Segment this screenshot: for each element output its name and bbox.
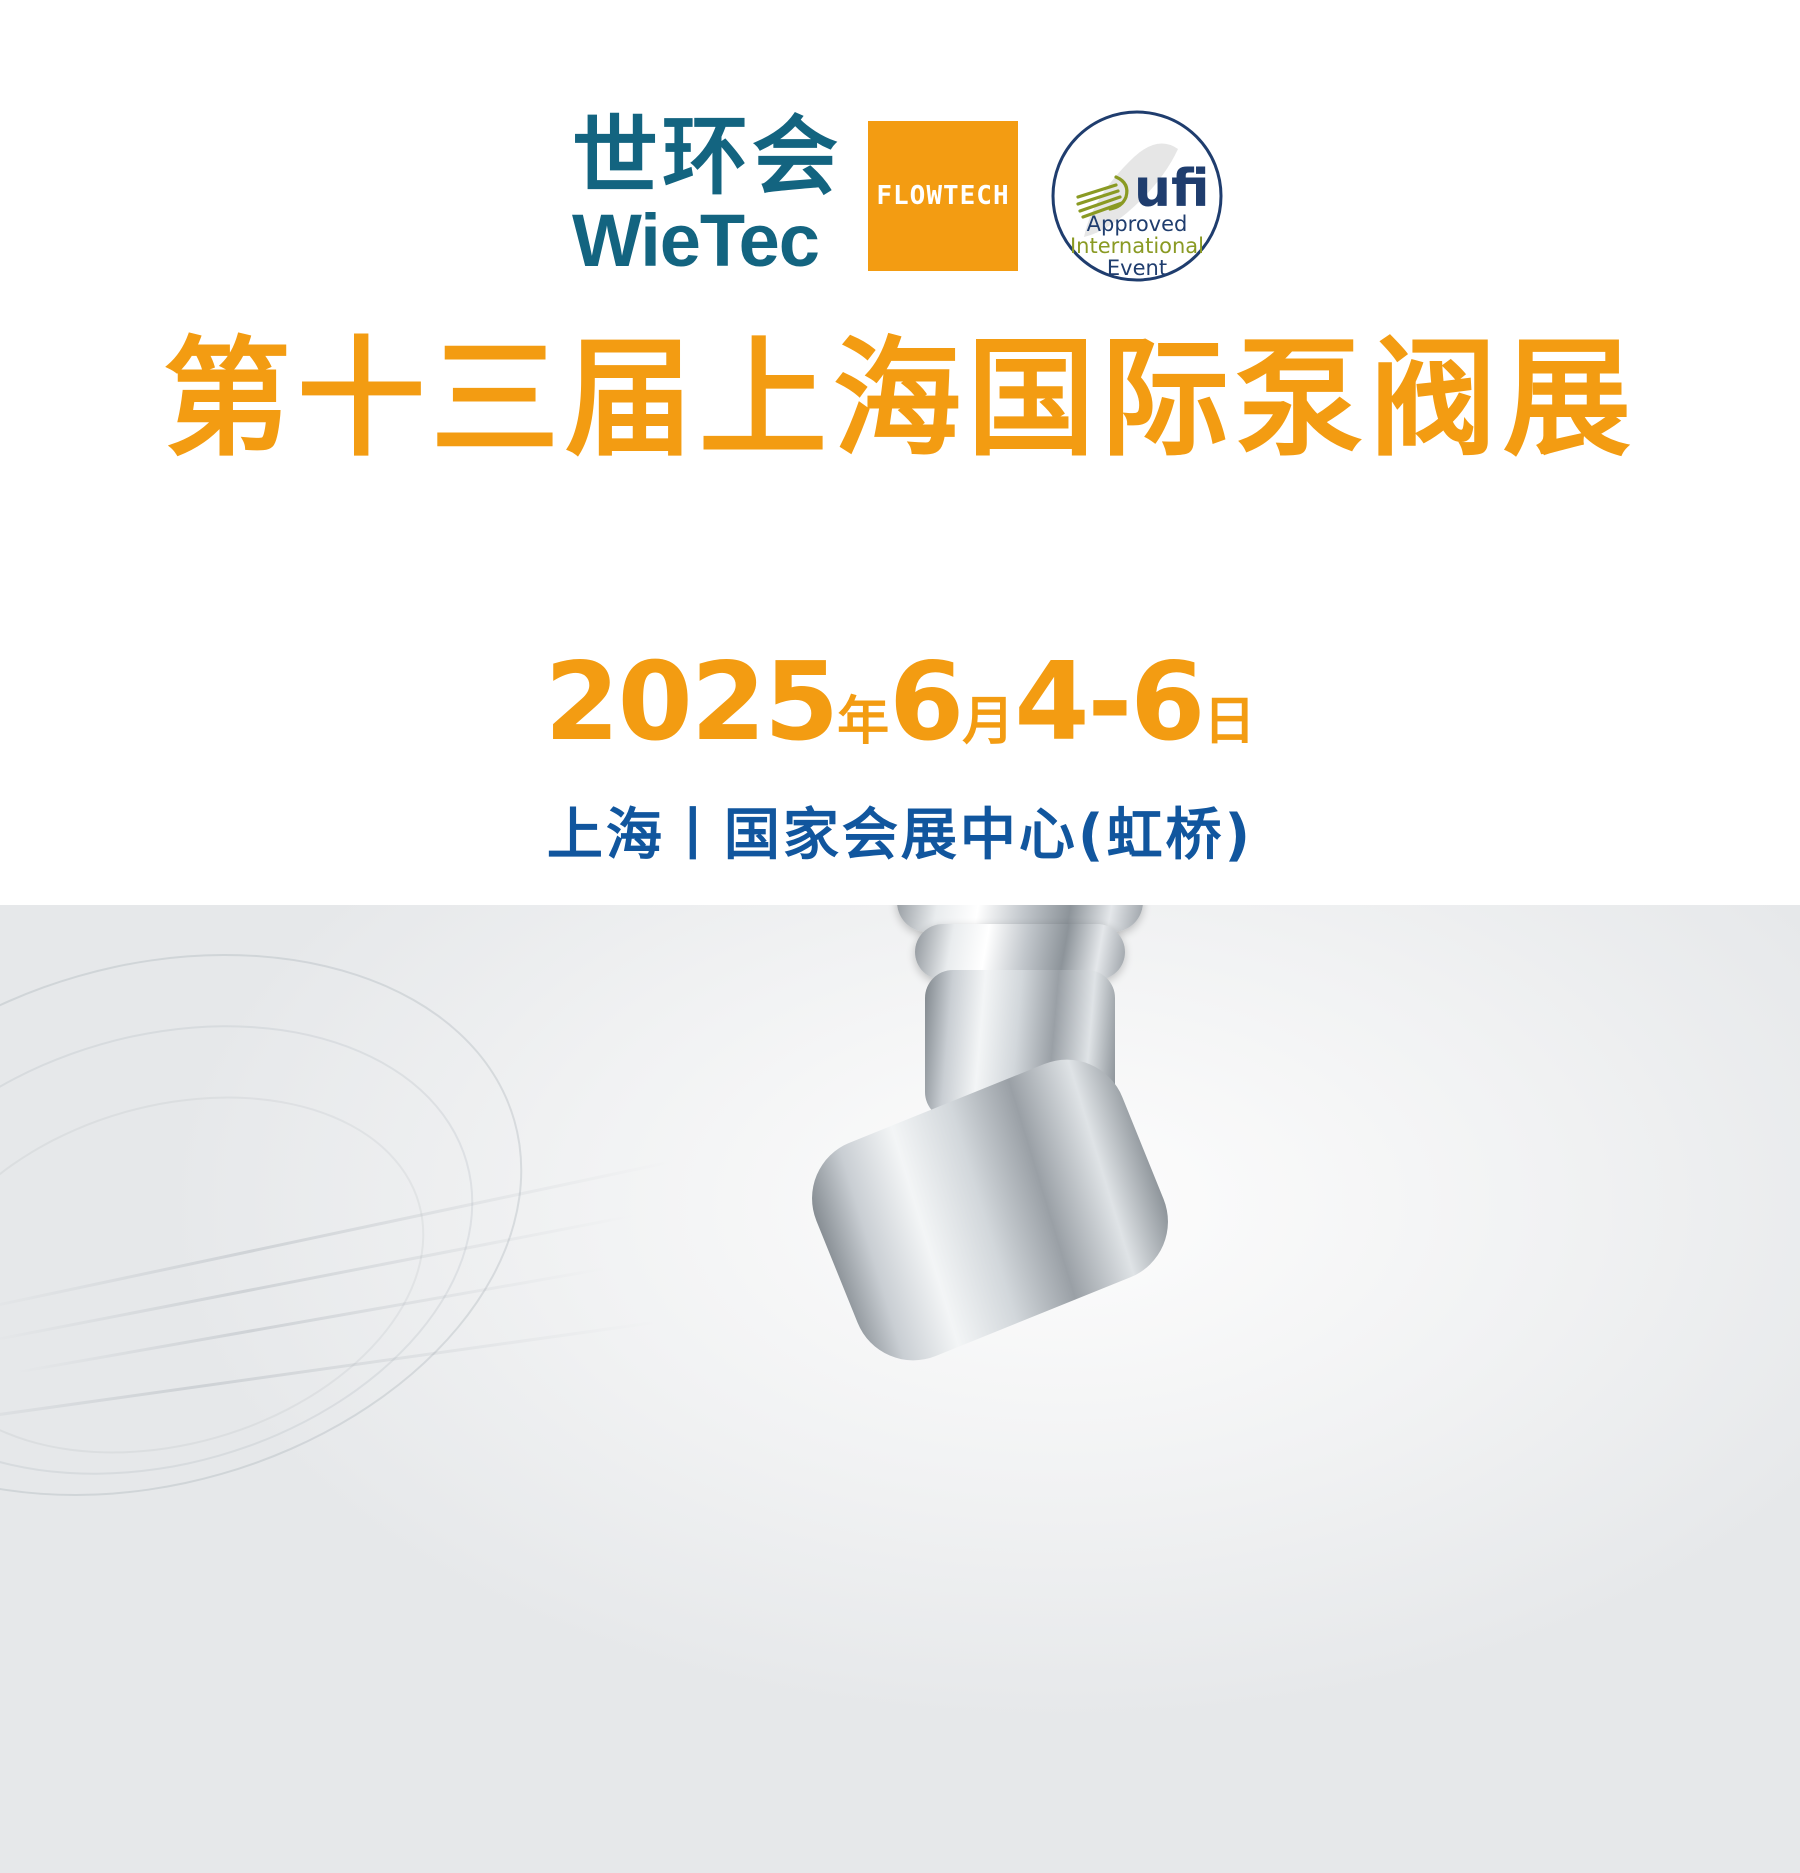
ufi-line-event: Event bbox=[1107, 256, 1167, 280]
date-year: 2025 bbox=[545, 640, 838, 765]
poster-root: 世环会 WieTec FLOWTECH ufi bbox=[0, 0, 1800, 1873]
ufi-badge-icon: ufi Approved International Event bbox=[1046, 105, 1228, 287]
wietec-chinese-name: 世环会 bbox=[572, 114, 842, 202]
flowtech-logo[interactable]: FLOWTECH bbox=[868, 121, 1018, 271]
page-title: 第十三届上海国际泵阀展 bbox=[0, 330, 1800, 471]
date-month: 6 bbox=[889, 640, 962, 765]
date-days: 4-6 bbox=[1014, 640, 1203, 765]
ufi-approved-badge[interactable]: ufi Approved International Event bbox=[1046, 105, 1228, 287]
wietec-english-name: WieTec bbox=[572, 204, 819, 278]
event-date: 2025年6月4-6日 bbox=[0, 640, 1800, 765]
ufi-line-approved: Approved bbox=[1087, 212, 1188, 236]
hero-photo-band: 全国最大泵阀展 60,000 bbox=[0, 905, 1800, 1873]
svg-text:ufi: ufi bbox=[1134, 159, 1210, 219]
date-year-suffix: 年 bbox=[837, 692, 889, 752]
event-venue: 上海丨国家会展中心(虹桥) bbox=[0, 790, 1800, 871]
date-day-suffix: 日 bbox=[1203, 692, 1255, 752]
wietec-logo[interactable]: 世环会 WieTec bbox=[572, 101, 842, 291]
ufi-line-international: International bbox=[1070, 234, 1204, 258]
flowtech-label: FLOWTECH bbox=[876, 181, 1009, 211]
date-month-suffix: 月 bbox=[962, 692, 1014, 752]
logo-row: 世环会 WieTec FLOWTECH ufi bbox=[0, 96, 1800, 296]
header-section: 世环会 WieTec FLOWTECH ufi bbox=[0, 0, 1800, 905]
